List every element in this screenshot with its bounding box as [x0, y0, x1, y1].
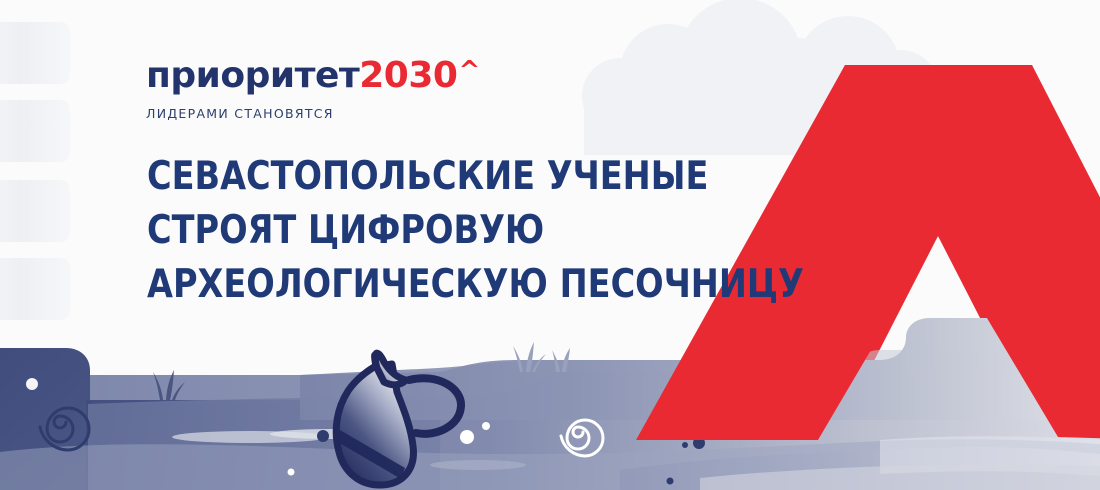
banner-content: приоритет2030^ ЛИДЕРАМИ СТАНОВЯТСЯ СЕВАС… — [0, 0, 1100, 490]
headline-line-2: СТРОЯТ ЦИФРОВУЮ — [147, 204, 697, 258]
logo-word-accent: 2030 — [359, 55, 457, 96]
priority-2030-logo[interactable]: приоритет2030^ ЛИДЕРАМИ СТАНОВЯТСЯ — [146, 56, 480, 121]
logo-tagline: ЛИДЕРАМИ СТАНОВЯТСЯ — [146, 106, 480, 121]
promo-banner: приоритет2030^ ЛИДЕРАМИ СТАНОВЯТСЯ СЕВАС… — [0, 0, 1100, 490]
logo-wordmark: приоритет2030^ — [146, 56, 480, 99]
headline-line-3: АРХЕОЛОГИЧЕСКУЮ ПЕСОЧНИЦУ — [147, 258, 697, 312]
logo-caret-icon: ^ — [458, 56, 479, 86]
headline-block: СЕВАСТОПОЛЬСКИЕ УЧЕНЫЕ СТРОЯТ ЦИФРОВУЮ А… — [147, 150, 787, 312]
headline-line-1: СЕВАСТОПОЛЬСКИЕ УЧЕНЫЕ — [147, 150, 697, 204]
logo-word-main: приоритет — [146, 55, 359, 96]
